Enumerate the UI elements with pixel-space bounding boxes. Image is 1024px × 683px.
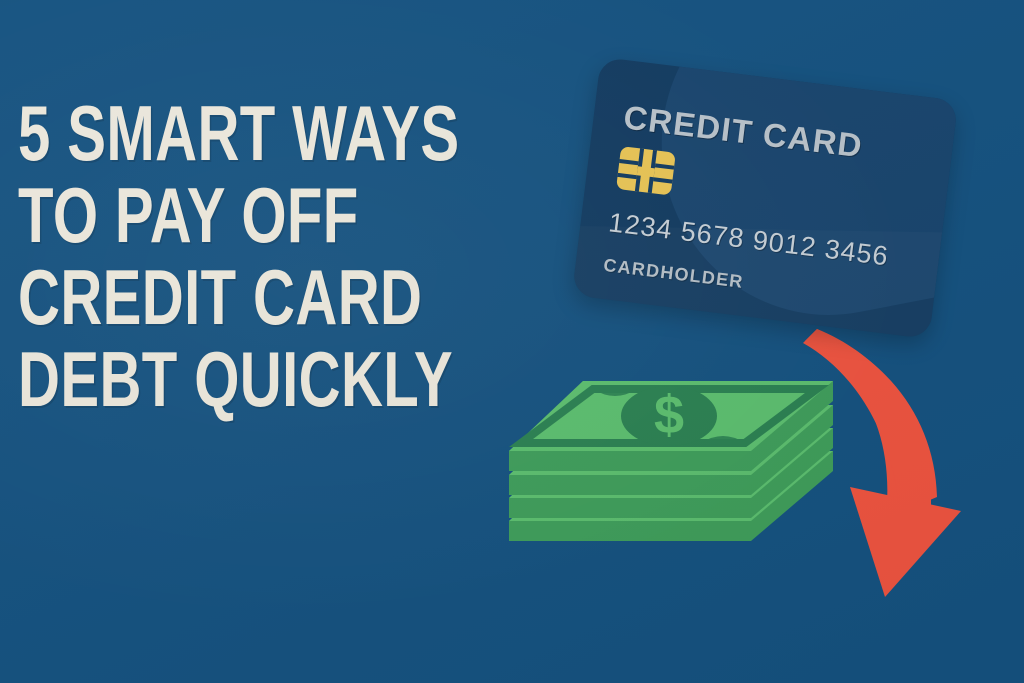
credit-card-body: CREDIT CARD 1234 5678 9012 3456 CARDHOLD… <box>572 57 959 339</box>
page-title: 5 SMART WAYS TO PAY OFF CREDIT CARD DEBT… <box>18 92 578 420</box>
credit-card-illustration: CREDIT CARD 1234 5678 9012 3456 CARDHOLD… <box>572 57 959 339</box>
headline-line-4: DEBT QUICKLY <box>18 338 435 420</box>
poster-canvas: 5 SMART WAYS TO PAY OFF CREDIT CARD DEBT… <box>0 0 1024 683</box>
headline-line-1: 5 SMART WAYS <box>18 92 435 174</box>
headline-line-2: TO PAY OFF <box>18 174 435 256</box>
dollar-sign-glyph: $ <box>654 385 684 445</box>
headline-line-3: CREDIT CARD <box>18 256 435 338</box>
emv-chip-icon <box>616 146 676 195</box>
